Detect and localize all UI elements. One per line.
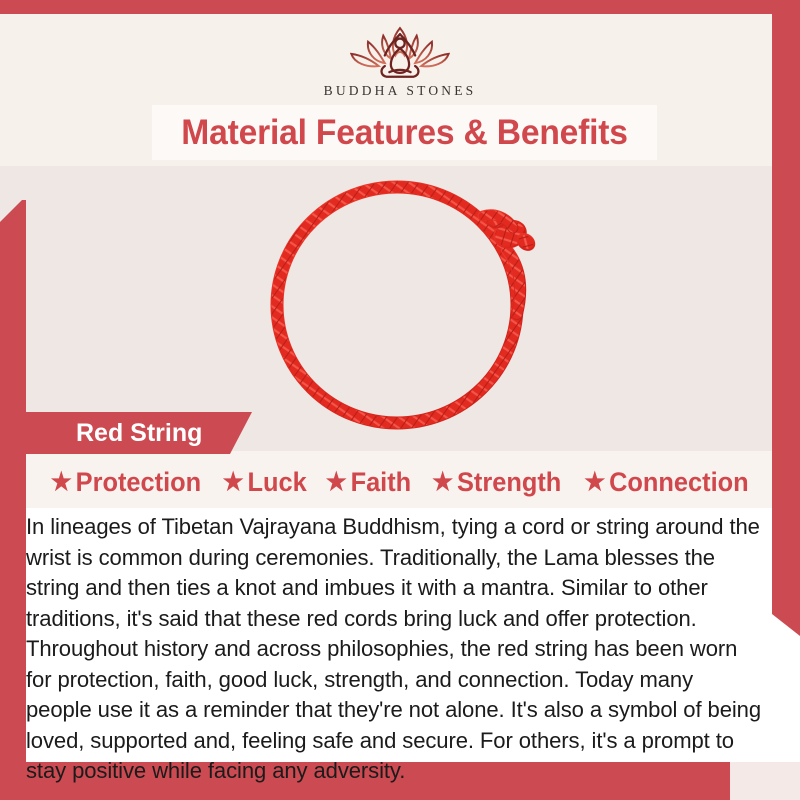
page-title: Material Features & Benefits (181, 113, 628, 153)
benefit-item-connection: ★ Connection (578, 467, 756, 498)
benefit-label: Strength (457, 467, 561, 498)
infographic-page: BUDDHA STONES Material Features & Benefi… (0, 0, 800, 800)
frame-top-bar (0, 0, 800, 14)
description-paragraph: In lineages of Tibetan Vajrayana Buddhis… (26, 512, 763, 787)
benefit-item-strength: ★ Strength (426, 467, 568, 498)
lotus-meditation-icon (324, 22, 476, 80)
star-icon: ★ (585, 470, 606, 495)
brand-header: BUDDHA STONES (0, 14, 800, 106)
star-icon: ★ (432, 470, 453, 495)
benefit-label: Faith (351, 467, 412, 498)
red-braided-string-bracelet-image (245, 172, 575, 434)
star-icon: ★ (50, 470, 71, 495)
material-label: Red String (76, 419, 202, 448)
benefit-label: Luck (247, 467, 306, 498)
star-icon: ★ (326, 470, 347, 495)
title-banner: Material Features & Benefits (152, 105, 657, 160)
brand-name: BUDDHA STONES (324, 83, 477, 99)
benefit-item-protection: ★ Protection (44, 467, 208, 498)
material-label-banner: Red String (26, 412, 252, 454)
benefit-label: Connection (609, 467, 749, 498)
benefit-item-luck: ★ Luck (216, 467, 313, 498)
benefits-row: ★ Protection ★ Luck ★ Faith ★ Strength ★… (0, 462, 800, 502)
star-icon: ★ (222, 470, 243, 495)
benefit-item-faith: ★ Faith (319, 467, 418, 498)
benefit-label: Protection (75, 467, 201, 498)
